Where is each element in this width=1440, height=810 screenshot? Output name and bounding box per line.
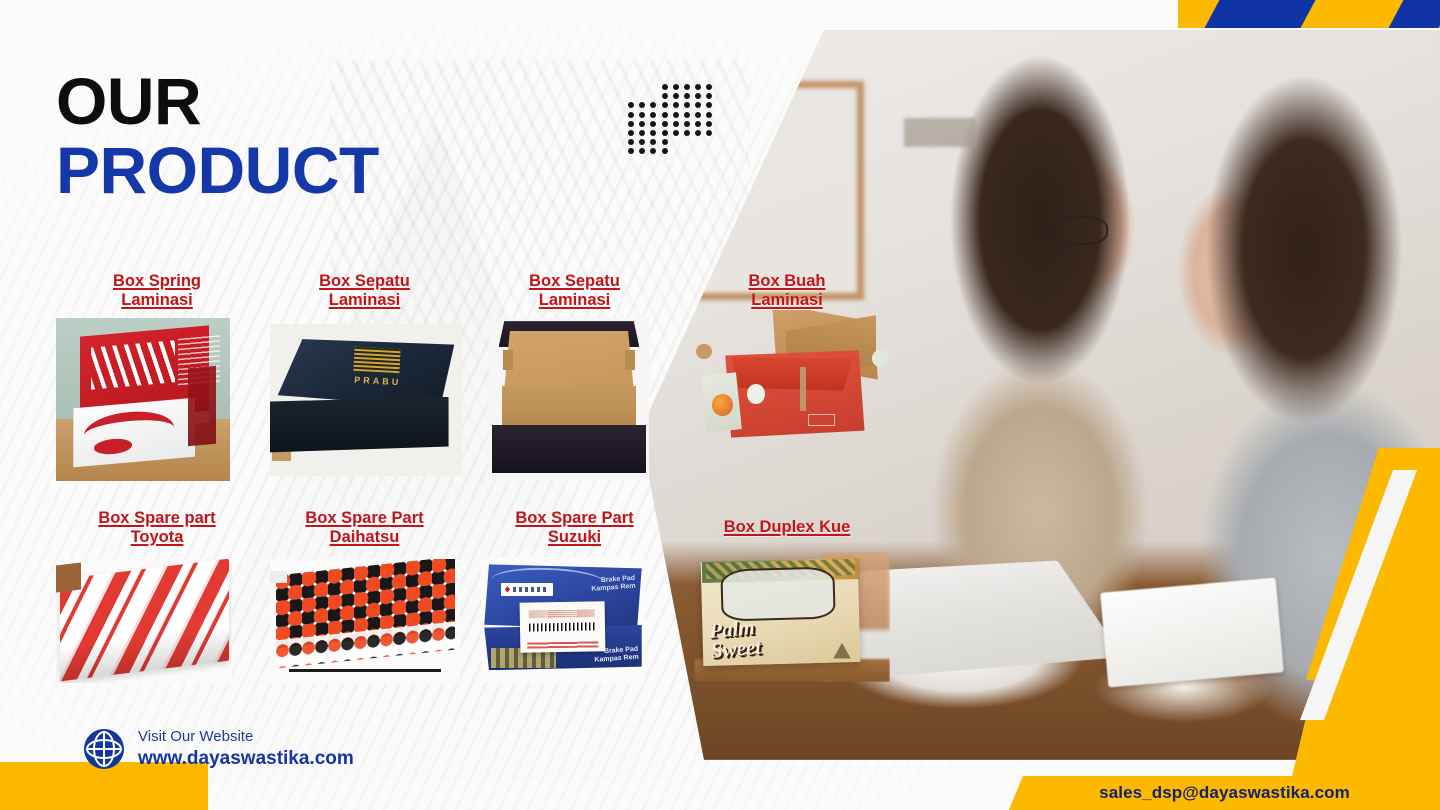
photo-wall-plaque (904, 118, 976, 147)
photo-notebook (1100, 577, 1284, 687)
matrix-dot (706, 84, 712, 90)
matrix-dot (695, 130, 701, 136)
email-address[interactable]: sales_dsp@dayaswastika.com (1099, 783, 1350, 803)
title-line-our: OUR (56, 70, 379, 133)
matrix-dot (650, 148, 656, 154)
matrix-dot (628, 102, 634, 108)
matrix-dot (684, 130, 690, 136)
matrix-dot (650, 112, 656, 118)
matrix-dot (639, 130, 645, 136)
dot-matrix-decoration (628, 84, 718, 158)
matrix-dot (662, 102, 668, 108)
matrix-dot (639, 121, 645, 127)
product-image-box-toyota (56, 559, 232, 683)
matrix-dot (673, 112, 679, 118)
top-blue-slash-1 (1205, 0, 1316, 28)
website-footer[interactable]: Visit Our Website www.dayaswastika.com (84, 728, 354, 771)
matrix-dot (706, 130, 712, 136)
product-caption: Box Spare Part Suzuki (467, 509, 682, 547)
product-caption: Box Sepatu Laminasi (467, 272, 682, 310)
website-prompt-label: Visit Our Website (138, 728, 354, 747)
product-caption: Box Spare Part Daihatsu (262, 509, 467, 547)
product-image-box-buah (696, 310, 892, 478)
matrix-dot (650, 102, 656, 108)
matrix-dot (662, 139, 668, 145)
matrix-dot (673, 121, 679, 127)
matrix-dot (628, 139, 634, 145)
matrix-dot (639, 102, 645, 108)
barcode-label (529, 623, 596, 632)
matrix-dot (639, 139, 645, 145)
photo-eyeglasses (1052, 216, 1108, 245)
matrix-dot (695, 121, 701, 127)
product-grid: Box Spring Laminasi Box Sepatu Laminasi (52, 272, 912, 684)
matrix-dot (662, 112, 668, 118)
matrix-dot (639, 148, 645, 154)
matrix-dot (650, 130, 656, 136)
product-image-box-sepatu-kraft (489, 318, 649, 480)
matrix-dot (628, 121, 634, 127)
product-card-box-sepatu-kraft[interactable]: Box Sepatu Laminasi (467, 272, 682, 481)
product-card-box-buah[interactable]: Box Buah Laminasi (682, 272, 892, 481)
matrix-dot (662, 148, 668, 154)
matrix-dot (662, 84, 668, 90)
matrix-dot (662, 121, 668, 127)
matrix-dot (706, 112, 712, 118)
matrix-dot (706, 102, 712, 108)
matrix-dot (650, 139, 656, 145)
product-card-box-spare-part-toyota[interactable]: Box Spare part Toyota (52, 509, 262, 684)
product-caption: Box Duplex Kue (682, 509, 892, 546)
globe-icon (84, 729, 124, 769)
matrix-dot (673, 93, 679, 99)
product-caption: Box Spare part Toyota (52, 509, 262, 547)
slide-our-product: OUR PRODUCT Box Spring Laminasi (0, 0, 1440, 810)
matrix-dot (706, 93, 712, 99)
matrix-dot (695, 93, 701, 99)
matrix-dot (673, 130, 679, 136)
product-caption: Box Buah Laminasi (682, 272, 892, 310)
matrix-dot (695, 84, 701, 90)
matrix-dot (662, 93, 668, 99)
matrix-dot (684, 102, 690, 108)
product-caption: Box Sepatu Laminasi (262, 272, 467, 310)
page-title: OUR PRODUCT (56, 70, 379, 205)
product-card-box-spare-part-suzuki[interactable]: Box Spare Part Suzuki Brake Pad Kampas R… (467, 509, 682, 684)
product-image-box-sepatu-prabu: PRABU (270, 324, 462, 476)
product-row-2: Box Spare part Toyota Box Spare Part Dai… (52, 509, 912, 684)
product-card-box-sepatu-prabu[interactable]: Box Sepatu Laminasi PRABU (262, 272, 467, 481)
matrix-dot (673, 84, 679, 90)
product-image-box-spring (56, 318, 230, 481)
website-url-link[interactable]: www.dayaswastika.com (138, 747, 354, 771)
product-card-box-spring-laminasi[interactable]: Box Spring Laminasi (52, 272, 262, 481)
matrix-dot (684, 112, 690, 118)
product-caption: Box Spring Laminasi (52, 272, 262, 310)
title-line-product: PRODUCT (56, 137, 379, 204)
matrix-dot (662, 130, 668, 136)
matrix-dot (695, 102, 701, 108)
product-image-box-duplex-kue: Palm Sweet (694, 552, 890, 682)
matrix-dot (706, 121, 712, 127)
email-bar[interactable]: sales_dsp@dayaswastika.com (1009, 776, 1440, 810)
matrix-dot (684, 93, 690, 99)
matrix-dot (628, 112, 634, 118)
product-image-box-daihatsu (270, 559, 460, 684)
matrix-dot (628, 130, 634, 136)
product-card-box-duplex-kue[interactable]: Box Duplex Kue Palm Sweet (682, 509, 892, 684)
matrix-dot (684, 84, 690, 90)
product-card-box-spare-part-daihatsu[interactable]: Box Spare Part Daihatsu (262, 509, 467, 684)
matrix-dot (650, 121, 656, 127)
matrix-dot (628, 148, 634, 154)
product-image-box-suzuki: Brake Pad Kampas Rem Brake Pad Kampas Re… (481, 557, 645, 683)
matrix-dot (695, 112, 701, 118)
matrix-dot (673, 102, 679, 108)
matrix-dot (684, 121, 690, 127)
product-row-1: Box Spring Laminasi Box Sepatu Laminasi (52, 272, 912, 481)
matrix-dot (639, 112, 645, 118)
